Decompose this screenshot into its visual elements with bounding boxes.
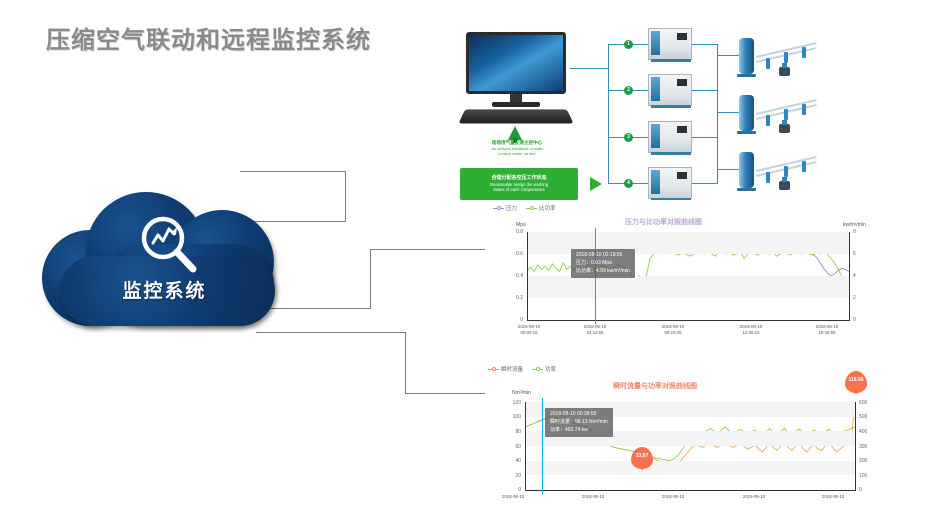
xtick-date: 2018-08-10 [805, 494, 861, 500]
chart1-ytick: 0.4 [501, 273, 523, 279]
xtick-date: 2018-08-10 [565, 494, 621, 500]
legend-item-power[interactable]: 功率 [532, 365, 556, 373]
right-arrow-icon [590, 177, 602, 191]
legend-item-pressure[interactable]: 压力 [493, 204, 517, 212]
chart2-y2tick: 100 [859, 473, 875, 479]
tooltip-time: 2018-08-10 00:38:55 [550, 411, 608, 419]
pressure-power-chart[interactable]: 压力 比功率 压力与比功率对照曲线图 Mpa kw/m³/min 0.8 0.6… [485, 200, 885, 335]
legend-label: 瞬时流量 [501, 365, 523, 373]
node-badge-2: 2 [624, 86, 633, 95]
chart2-title: 瞬时流量与功率对照曲线图 [613, 381, 697, 391]
xtick-time: 00:00:15 [501, 330, 557, 336]
chart2-xtick: 2018-08-10 [726, 494, 782, 500]
legend-label: 比功率 [539, 204, 556, 212]
bus-to-tank-3 [717, 169, 739, 170]
bus-out-4 [692, 183, 717, 184]
chart2-y2-axis [855, 402, 856, 491]
monitor-screen [466, 32, 566, 94]
chart1-y2-axis [849, 232, 850, 321]
chart2-xtick: 2018-08-10 [805, 494, 861, 500]
legend-marker-icon [493, 206, 504, 211]
chart1-tooltip: 2018-08-10 02:19:55 压力：0.63 Mpa 比功率：4.99… [571, 249, 635, 278]
air-tank-foot [737, 188, 756, 191]
tooltip-row2: 功率：493.74 kw [550, 427, 608, 435]
chart1-xtick: 2018-08-10 00:00:15 [501, 324, 557, 336]
max-value-marker[interactable]: 118.55 [845, 371, 867, 393]
bus-line-monitor [570, 68, 608, 69]
chart2-y2tick: 0 [859, 487, 875, 493]
chart1-xtick: 2018-08-10 08:23:35 [645, 324, 701, 336]
page-title: 压缩空气联动和远程监控系统 [46, 20, 371, 55]
chart2-ytick: 20 [499, 473, 521, 479]
connector-line-bottom-vertical [405, 332, 406, 393]
chart1-xtick: 2018-08-10 04:11:55 [567, 324, 623, 336]
connector-line-mid-tail [370, 249, 485, 250]
legend-label: 功率 [545, 365, 556, 373]
chart1-y-unit: Mpa [516, 222, 526, 228]
chart2-ytick: 120 [499, 400, 521, 406]
xtick-date: 2018-08-10 [645, 494, 701, 500]
chart1-y2tick: 4 [853, 273, 867, 279]
monitoring-cloud[interactable]: 监控系统 [42, 186, 297, 326]
legend-marker-icon [488, 367, 499, 372]
air-tank [739, 38, 754, 74]
bus-out-2 [692, 90, 717, 91]
green-box-en-line2: states of each compressors [460, 187, 578, 192]
magnifier-chart-icon [135, 213, 203, 277]
chart1-x-axis [527, 320, 850, 321]
min-value-marker[interactable]: 33.87 [631, 447, 653, 469]
system-topology-diagram: 现场用气量反馈主控中心 Air delivery feedback of mai… [432, 22, 942, 197]
tooltip-row2: 比功率：4.99 kw/m³/min [576, 268, 630, 276]
chart2-ytick: 60 [499, 444, 521, 450]
chart1-ytick: 0.2 [501, 295, 523, 301]
keyboard-icon [458, 109, 573, 123]
node-badge-3: 3 [624, 133, 633, 142]
node-badge-4: 4 [624, 179, 633, 188]
bus-out-3 [692, 137, 717, 138]
bus-out-1 [692, 44, 717, 45]
tooltip-time: 2018-08-10 02:19:55 [576, 252, 630, 260]
chart1-ytick: 0.6 [501, 251, 523, 257]
chart1-y2tick: 6 [853, 251, 867, 257]
chart2-y2tick: 300 [859, 444, 875, 450]
flow-power-chart[interactable]: 瞬时流量 功率 瞬时流量与功率对照曲线图 Nm³/min 120 100 80 … [485, 362, 885, 529]
xtick-time: 12:35:15 [723, 330, 779, 336]
chart2-y2tick: 600 [859, 400, 875, 406]
bus-to-tank-2 [717, 112, 739, 113]
air-tank-foot [737, 74, 756, 77]
chart1-y-axis [527, 232, 528, 321]
connector-line-top-vertical [345, 171, 346, 221]
compressor-unit [648, 167, 692, 199]
legend-item-flow[interactable]: 瞬时流量 [488, 365, 523, 373]
compressor-unit [648, 121, 692, 153]
connector-line-bottom [256, 332, 406, 333]
air-tank [739, 152, 754, 188]
compressor-unit [648, 28, 692, 60]
chart1-xtick: 2018-08-10 16:46:55 [799, 324, 855, 336]
monitor-base [492, 102, 540, 107]
xtick-date: 2018-08-10 [726, 494, 782, 500]
legend-item-specific-power[interactable]: 比功率 [526, 204, 556, 212]
legend-marker-icon [532, 367, 543, 372]
bus-right-collector [717, 44, 718, 184]
assign-status-box: 合理分配各空压工作状态 Reasonable assign the workin… [460, 168, 578, 200]
legend-marker-icon [526, 206, 537, 211]
chart2-xtick: 2018-08-10 [485, 494, 541, 500]
xtick-time: 16:46:55 [799, 330, 855, 336]
connector-line-mid-vertical [370, 249, 371, 309]
tooltip-row1: 压力：0.63 Mpa [576, 260, 630, 268]
chart2-xtick: 2018-08-10 [565, 494, 621, 500]
tooltip-row1: 瞬时流量：98.13 Nm³/min [550, 419, 608, 427]
xtick-time: 04:11:55 [567, 330, 623, 336]
chart2-cursor-line[interactable] [542, 398, 543, 494]
chart2-legend[interactable]: 瞬时流量 功率 [488, 365, 556, 373]
air-tank [739, 95, 754, 131]
chart1-ytick: 0.8 [501, 229, 523, 235]
chart1-legend[interactable]: 压力 比功率 [493, 204, 556, 212]
xtick-time: 08:23:35 [645, 330, 701, 336]
chart2-x-axis [525, 490, 856, 491]
node-badge-1: 1 [624, 40, 633, 49]
chart2-ytick: 100 [499, 414, 521, 420]
chart2-y2tick: 400 [859, 429, 875, 435]
chart1-xtick: 2018-08-10 12:35:15 [723, 324, 779, 336]
chart1-title: 压力与比功率对照曲线图 [625, 217, 702, 227]
chart1-y2tick: 0 [853, 317, 867, 323]
chart2-xtick: 2018-08-10 [645, 494, 701, 500]
air-tank-foot [737, 131, 756, 134]
chart2-ytick: 40 [499, 458, 521, 464]
chart1-ytick: 0 [501, 317, 523, 323]
chart1-y2tick: 2 [853, 295, 867, 301]
chart2-tooltip: 2018-08-10 00:38:55 瞬时流量：98.13 Nm³/min 功… [545, 408, 613, 437]
connector-line-bottom-tail [405, 393, 485, 394]
desktop-monitor-icon [462, 32, 570, 124]
chart2-y2tick: 500 [859, 414, 875, 420]
bus-to-tank-1 [717, 55, 739, 56]
chart2-y-unit: Nm³/min [512, 390, 531, 396]
control-center-caption: 现场用气量反馈主控中心 Air delivery feedback of mai… [452, 140, 582, 156]
compressor-unit [648, 74, 692, 106]
cloud-label: 监控系统 [42, 276, 287, 303]
chart2-y2tick: 200 [859, 458, 875, 464]
caption-en-line2: control center on site [452, 151, 582, 156]
chart2-ytick: 80 [499, 429, 521, 435]
xtick-date: 2018-08-10 [485, 494, 541, 500]
bus-line-vertical-main [608, 44, 609, 184]
legend-label: 压力 [506, 204, 517, 212]
chart1-y2-unit: kw/m³/min [843, 222, 866, 228]
chart2-ytick: 0 [499, 487, 521, 493]
connector-line-top [240, 171, 346, 172]
chart2-y-axis [525, 402, 526, 491]
chart1-y2tick: 8 [853, 229, 867, 235]
